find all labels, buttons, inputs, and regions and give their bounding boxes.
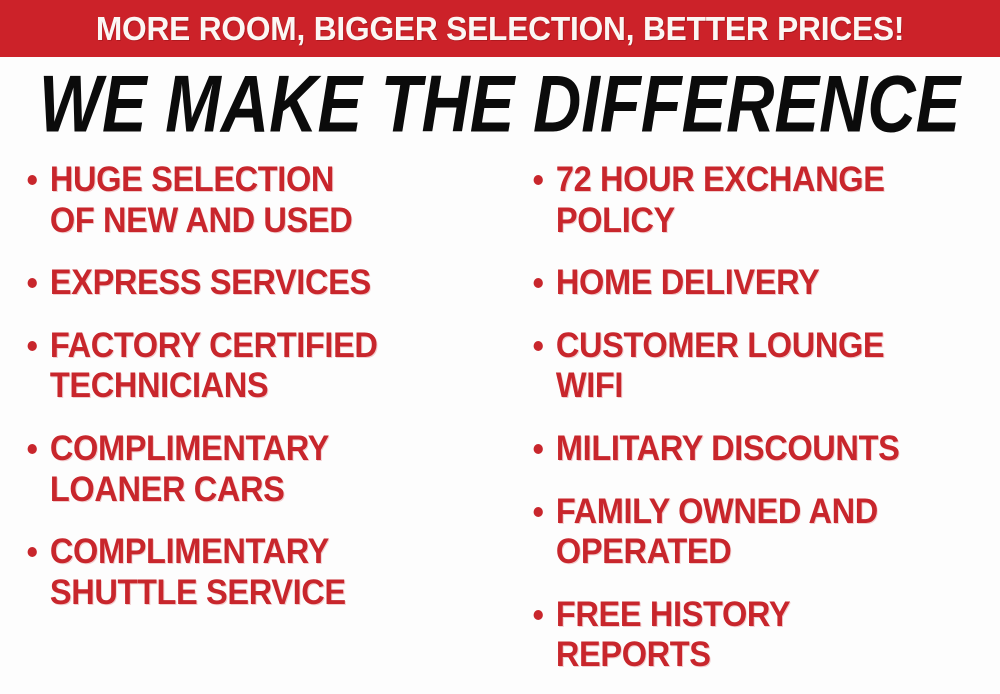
list-item: HOME DELIVERY bbox=[528, 263, 967, 304]
list-item: EXPRESS SERVICES bbox=[22, 263, 471, 304]
banner-headline-text: MORE ROOM, BIGGER SELECTION, BETTER PRIC… bbox=[96, 12, 904, 45]
promotional-poster: MORE ROOM, BIGGER SELECTION, BETTER PRIC… bbox=[0, 0, 1000, 694]
headline-container: WE MAKE THE DIFFERENCE bbox=[0, 62, 1000, 148]
list-item: FACTORY CERTIFIED TECHNICIANS bbox=[22, 326, 471, 407]
list-item: FAMILY OWNED AND OPERATED bbox=[528, 492, 967, 573]
benefits-column-left: HUGE SELECTION OF NEW AND USED EXPRESS S… bbox=[0, 160, 505, 694]
list-item: HUGE SELECTION OF NEW AND USED bbox=[22, 160, 471, 241]
top-banner: MORE ROOM, BIGGER SELECTION, BETTER PRIC… bbox=[0, 0, 1000, 57]
list-item: CUSTOMER LOUNGE WIFI bbox=[528, 326, 967, 407]
page-title: WE MAKE THE DIFFERENCE bbox=[39, 65, 960, 146]
benefit-list-left: HUGE SELECTION OF NEW AND USED EXPRESS S… bbox=[22, 160, 505, 613]
list-item: 72 HOUR EXCHANGE POLICY bbox=[528, 160, 967, 241]
list-item: COMPLIMENTARY LOANER CARS bbox=[22, 429, 471, 510]
list-item: COMPLIMENTARY SHUTTLE SERVICE bbox=[22, 532, 471, 613]
benefits-column-right: 72 HOUR EXCHANGE POLICY HOME DELIVERY CU… bbox=[505, 160, 1000, 694]
benefits-columns: HUGE SELECTION OF NEW AND USED EXPRESS S… bbox=[0, 160, 1000, 694]
list-item: FREE HISTORY REPORTS bbox=[528, 595, 967, 676]
list-item: MILITARY DISCOUNTS bbox=[528, 429, 967, 470]
benefit-list-right: 72 HOUR EXCHANGE POLICY HOME DELIVERY CU… bbox=[528, 160, 1000, 676]
